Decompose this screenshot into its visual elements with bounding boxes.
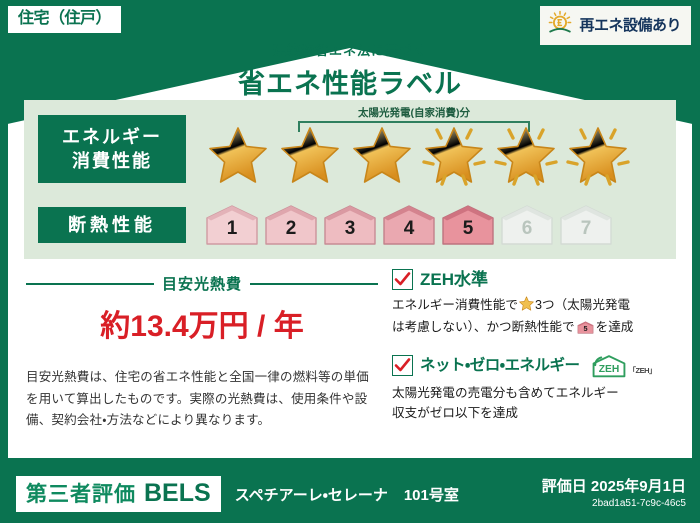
utility-cost-value: 約13.4万円 / 年 (26, 301, 378, 345)
property-room-number: 101号室 (404, 484, 459, 505)
solar-bracket-label: 太陽光発電(自家消費)分 (298, 108, 530, 119)
insulation-level-number: 6 (499, 218, 555, 240)
evaluation-info: 評価日 2025年9月1日 2bad1a51-7c9c-46c5 (542, 479, 686, 510)
claim-desc-part2: 3つ（太陽光発電 (535, 298, 630, 312)
star-rating-item (348, 122, 416, 190)
insulation-performance-row: 断熱性能 1 2 (24, 199, 676, 251)
claim-header: ネット・ゼロ・エネルギー ZEH 「ZEH」 (392, 354, 674, 378)
insulation-level-number: 5 (440, 218, 496, 240)
renewable-energy-badge: 再エネ設備あり (540, 6, 691, 45)
bels-certification-badge: 第三者評価 BELS (16, 476, 221, 512)
claim-desc-part3: は考慮しない）、かつ断熱性能で (392, 320, 575, 334)
bels-en-label: BELS (144, 481, 211, 506)
claim-header: ZEH水準 (392, 269, 674, 290)
star-rating-item (204, 122, 272, 190)
star-rating-item (276, 122, 344, 190)
checkbox-checked[interactable] (392, 355, 413, 376)
evaluation-date: 評価日 2025年9月1日 (542, 479, 686, 496)
label-footer: 第三者評価 BELS スペチアーレ・セレーナ 101号室 評価日 2025年9月… (0, 465, 700, 523)
star-rating-item-solar (564, 122, 632, 190)
utility-cost-heading: 目安光熱費 (26, 273, 378, 294)
energy-label-line1: エネルギー (38, 125, 186, 149)
insulation-level-number: 4 (381, 218, 437, 240)
heading-rule-right (250, 283, 378, 285)
label-title-block: 建築物省エネ法に基づく 省エネ性能ラベル (0, 40, 700, 101)
inline-star-icon (519, 296, 534, 317)
insulation-performance-label: 断熱性能 (38, 207, 186, 243)
insulation-level-item: 2 (263, 203, 319, 247)
solar-sun-icon (547, 10, 573, 41)
utility-cost-title: 目安光熱費 (162, 273, 242, 294)
star-icon (280, 126, 340, 184)
heading-rule-left (26, 283, 154, 285)
zeh-house-logo: ZEH 「ZEH」 (591, 354, 657, 378)
claim-net-zero-energy: ネット・ゼロ・エネルギー ZEH 「ZEH」 太陽光発電の売電分も含めてエネルギ… (392, 354, 674, 424)
checkbox-checked[interactable] (392, 269, 413, 290)
insulation-level-number: 7 (558, 218, 614, 240)
insulation-level-item: 1 (204, 203, 260, 247)
zeh-logo-caption: 「ZEH」 (629, 365, 657, 378)
svg-text:5: 5 (583, 324, 587, 333)
check-icon (393, 270, 412, 289)
insulation-level-scale: 1 2 3 (204, 203, 614, 247)
bels-jp-label: 第三者評価 (26, 484, 136, 505)
sparkle-icon (492, 122, 560, 190)
claim-zeh-standard: ZEH水準 エネルギー消費性能で3つ（太陽光発電は考慮しない）、かつ断熱性能で5… (392, 269, 674, 342)
inline-house-icon: 5 (577, 320, 594, 341)
claim-desc-line1: 太陽光発電の売電分も含めてエネルギー (392, 386, 619, 400)
insulation-level-number: 3 (322, 218, 378, 240)
claim-desc-part4: を達成 (596, 320, 634, 334)
insulation-level-item-inactive: 7 (558, 203, 614, 247)
insulation-level-item: 3 (322, 203, 378, 247)
energy-label-line2: 消費性能 (38, 149, 186, 173)
claim-desc-line2: 収支がゼロ以下を達成 (392, 406, 518, 420)
star-rating-item-solar (420, 122, 488, 190)
insulation-level-number: 1 (204, 218, 260, 240)
sparkle-icon (420, 122, 488, 190)
claim-description: 太陽光発電の売電分も含めてエネルギー収支がゼロ以下を達成 (392, 383, 674, 424)
details-section: 目安光熱費 約13.4万円 / 年 目安光熱費は、住宅の省エネ性能と全国一律の燃… (8, 269, 692, 432)
claim-desc-part1: エネルギー消費性能で (392, 298, 518, 312)
insulation-level-item-inactive: 6 (499, 203, 555, 247)
zeh-logo-icon: ZEH (591, 354, 627, 378)
energy-performance-label: 住宅（住戸） 再エネ設備あり 建築物省エネ法に基づく (0, 0, 700, 523)
claim-description: エネルギー消費性能で3つ（太陽光発電は考慮しない）、かつ断熱性能で5を達成 (392, 295, 674, 342)
performance-panel: エネルギー 消費性能 太陽光発電(自家消費)分 (24, 100, 676, 259)
claim-title: ZEH水準 (420, 271, 488, 288)
utility-cost-column: 目安光熱費 約13.4万円 / 年 目安光熱費は、住宅の省エネ性能と全国一律の燃… (26, 269, 378, 432)
star-rating (204, 122, 632, 190)
dwelling-type-badge: 住宅（住戸） (8, 6, 121, 33)
check-icon (393, 356, 412, 375)
energy-performance-label: エネルギー 消費性能 (38, 115, 186, 184)
star-icon (208, 126, 268, 184)
label-content: エネルギー 消費性能 太陽光発電(自家消費)分 (8, 100, 692, 432)
sparkle-icon (564, 122, 632, 190)
claims-column: ZEH水準 エネルギー消費性能で3つ（太陽光発電は考慮しない）、かつ断熱性能で5… (378, 269, 674, 432)
evaluation-id: 2bad1a51-7c9c-46c5 (542, 498, 686, 509)
star-rating-area: 太陽光発電(自家消費)分 (186, 106, 676, 192)
claim-title: ネット・ゼロ・エネルギー (420, 358, 580, 374)
property-name: スペチアーレ・セレーナ (235, 484, 388, 505)
star-icon (352, 126, 412, 184)
insulation-level-number: 2 (263, 218, 319, 240)
insulation-level-item: 4 (381, 203, 437, 247)
star-rating-item-solar (492, 122, 560, 190)
insulation-level-item-achieved: 5 (440, 203, 496, 247)
energy-performance-row: エネルギー 消費性能 太陽光発電(自家消費)分 (24, 106, 676, 192)
utility-cost-note: 目安光熱費は、住宅の省エネ性能と全国一律の燃料等の単価を用いて算出したものです。… (26, 367, 378, 432)
renewable-badge-label: 再エネ設備あり (579, 18, 681, 33)
svg-text:ZEH: ZEH (598, 364, 619, 375)
page-title: 省エネ性能ラベル (0, 62, 700, 101)
